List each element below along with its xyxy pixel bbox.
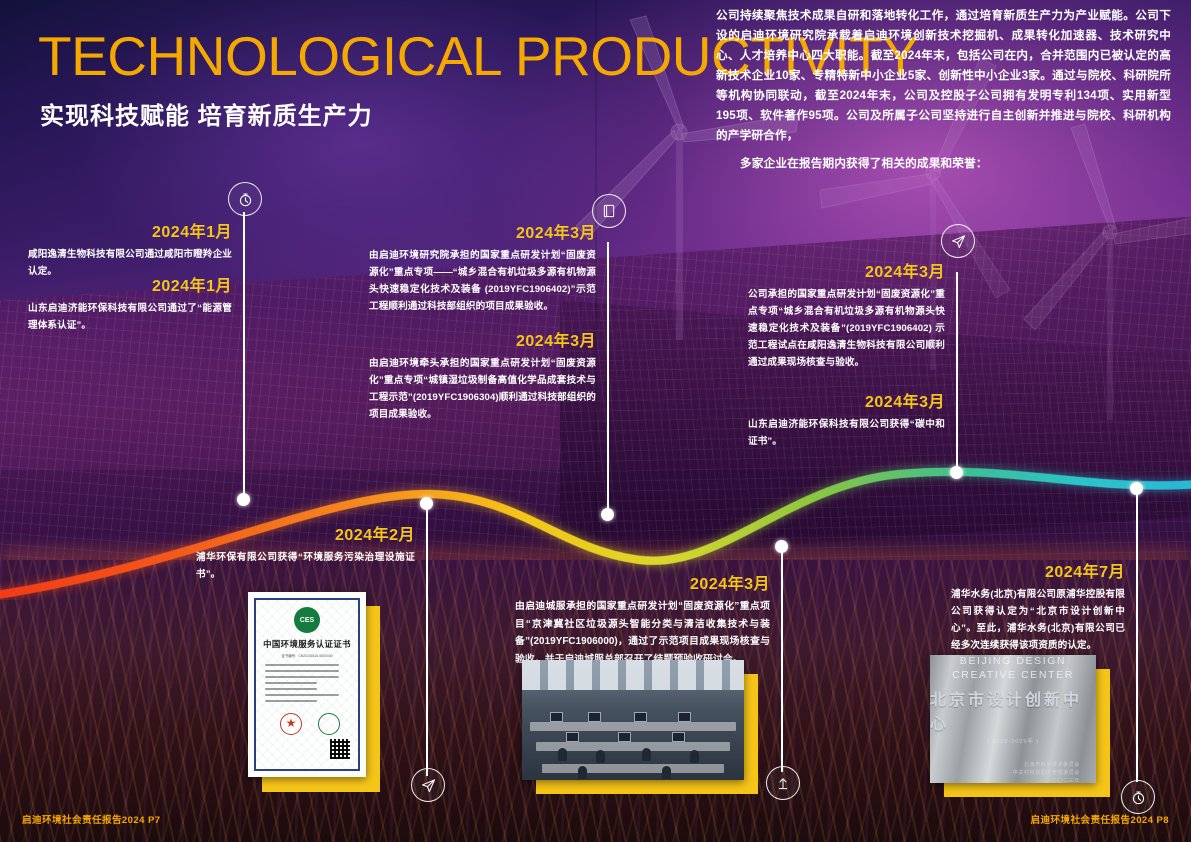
plaque-org-2: 中关村科技园区管理委员会 — [930, 769, 1096, 777]
footer-left: 启迪环境社会责任报告2024 P7 — [22, 812, 160, 826]
plaque-image: BEIJING DESIGN CREATIVE CENTER 北京市设计创新中心… — [930, 655, 1096, 783]
timeline-entry: 2024年7月 浦华水务(北京)有限公司原浦华控股有限公司获得认定为“北京市设计… — [951, 558, 1125, 654]
person — [642, 748, 651, 761]
monitor — [588, 712, 601, 722]
intro-paragraph-2: 多家企业在报告期内获得了相关的成果和荣誉： — [716, 154, 1171, 174]
certificate-green-stamp — [318, 713, 340, 735]
intro-text: 公司持续聚焦技术成果自研和落地转化工作，通过培育新质生产力为产业赋能。公司下设的… — [716, 6, 1171, 174]
timeline-entry: 2024年3月 由启迪城服承担的国家重点研发计划“固废资源化”重点项目“京津冀社… — [515, 570, 770, 668]
timeline-node — [237, 493, 250, 506]
entry-body: 山东启迪济能环保科技有限公司获得“碳中和证书”。 — [748, 416, 945, 450]
certificate-image: CES 中国环境服务认证证书 证书编号：CN20240116-0000040 ★ — [248, 592, 366, 777]
entry-body: 浦华水务(北京)有限公司原浦华控股有限公司获得认定为“北京市设计创新中心”。至此… — [951, 586, 1125, 654]
plaque-org-1: 北京市科学技术委员会 — [930, 761, 1096, 769]
person — [690, 750, 699, 763]
timeline-stem — [243, 212, 245, 500]
person — [558, 748, 567, 761]
timeline-entry: 2024年1月 山东启迪济能环保科技有限公司通过了“能源管理体系认证”。 — [28, 272, 232, 334]
footer-right: 启迪环境社会责任报告2024 P8 — [1031, 812, 1169, 826]
intro-paragraph-1: 公司持续聚焦技术成果自研和落地转化工作，通过培育新质生产力为产业赋能。公司下设的… — [716, 6, 1171, 146]
entry-date: 2024年1月 — [28, 272, 232, 296]
stopwatch-icon — [228, 182, 262, 216]
book-icon — [592, 194, 626, 228]
timeline-node — [950, 466, 963, 479]
send-icon — [941, 224, 975, 258]
certificate-photo: CES 中国环境服务认证证书 证书编号：CN20240116-0000040 ★ — [248, 592, 380, 792]
timeline-node — [1130, 482, 1143, 495]
office-photo — [522, 660, 758, 794]
entry-body: 由启迪环境研究院承担的国家重点研发计划“固废资源化”重点专项——“城乡混合有机垃… — [369, 247, 596, 315]
monitor — [566, 732, 579, 742]
entry-body: 由启迪环境牵头承担的国家重点研发计划“固废资源化”重点专项“城镇湿垃圾制备高值化… — [369, 355, 596, 423]
timeline-entry: 2024年3月 公司承担的国家重点研发计划“固废资源化”重点专项“城乡混合有机垃… — [748, 258, 945, 371]
timeline-node — [775, 540, 788, 553]
timeline-stem — [1136, 488, 1138, 782]
timeline-stem — [607, 242, 609, 514]
office-image — [522, 660, 744, 780]
entry-date: 2024年3月 — [369, 219, 596, 243]
page-subtitle: 实现科技赋能 培育新质生产力 — [40, 96, 373, 131]
entry-date: 2024年7月 — [951, 558, 1125, 582]
entry-body: 山东启迪济能环保科技有限公司通过了“能源管理体系认证”。 — [28, 300, 232, 334]
ceiling-lights — [522, 660, 744, 690]
monitor — [672, 732, 685, 742]
upload-icon — [766, 766, 800, 800]
person — [662, 766, 671, 779]
plaque-chinese-title: 北京市设计创新中心 — [930, 686, 1096, 734]
entry-date: 2024年3月 — [515, 570, 770, 594]
timeline-node — [420, 497, 433, 510]
certificate-title: 中国环境服务认证证书 — [263, 638, 351, 650]
entry-body: 由启迪城服承担的国家重点研发计划“固废资源化”重点项目“京津冀社区垃圾源头智能分… — [515, 598, 770, 668]
plaque-english-line-2: CREATIVE CENTER — [952, 668, 1074, 682]
person — [596, 750, 605, 763]
monitor — [618, 732, 631, 742]
plaque-years: ( 2023-2025年 ) — [987, 737, 1040, 745]
desk-row — [542, 764, 724, 773]
timeline-entry: 2024年1月 咸阳逸清生物科技有限公司通过咸阳市瞪羚企业认定。 — [28, 218, 232, 280]
timeline-entry: 2024年3月 由启迪环境研究院承担的国家重点研发计划“固废资源化”重点专项——… — [369, 219, 596, 315]
monitor — [550, 712, 563, 722]
report-spread: TECHNOLOGICAL PRODUCTIVITY 实现科技赋能 培育新质生产… — [0, 0, 1191, 842]
plaque-photo: BEIJING DESIGN CREATIVE CENTER 北京市设计创新中心… — [930, 655, 1110, 797]
certificate-qr-code — [330, 739, 350, 759]
monitor — [678, 712, 691, 722]
entry-body: 公司承担的国家重点研发计划“固废资源化”重点专项“城乡混合有机垃圾多源有机物源头… — [748, 286, 945, 371]
entry-body: 浦华环保有限公司获得“环境服务污染治理设施证书”。 — [196, 549, 415, 583]
plaque-org-3: 二〇二三年 — [930, 777, 1096, 784]
timeline-node — [601, 508, 614, 521]
timeline-stem — [956, 272, 958, 472]
stopwatch-icon — [1121, 780, 1155, 814]
entry-date: 2024年2月 — [196, 521, 415, 545]
certificate-red-stamp: ★ — [280, 713, 302, 735]
certificate-number: 证书编号：CN20240116-0000040 — [281, 653, 332, 658]
certificate-seal: CES — [294, 607, 320, 633]
send-icon — [411, 768, 445, 802]
entry-date: 2024年3月 — [369, 327, 596, 351]
timeline-entry: 2024年3月 山东启迪济能环保科技有限公司获得“碳中和证书”。 — [748, 388, 945, 450]
monitor — [634, 712, 647, 722]
timeline-entry: 2024年3月 由启迪环境牵头承担的国家重点研发计划“固废资源化”重点专项“城镇… — [369, 327, 596, 423]
certificate-body-lines — [265, 664, 349, 706]
entry-date: 2024年3月 — [748, 258, 945, 282]
entry-date: 2024年1月 — [28, 218, 232, 242]
timeline-entry: 2024年2月 浦华环保有限公司获得“环境服务污染治理设施证书”。 — [196, 521, 415, 583]
timeline-stem — [426, 503, 428, 776]
person — [578, 766, 587, 779]
timeline-stem — [781, 546, 783, 772]
entry-date: 2024年3月 — [748, 388, 945, 412]
plaque-english-line-1: BEIJING DESIGN — [960, 655, 1066, 668]
desk-row — [530, 722, 736, 731]
